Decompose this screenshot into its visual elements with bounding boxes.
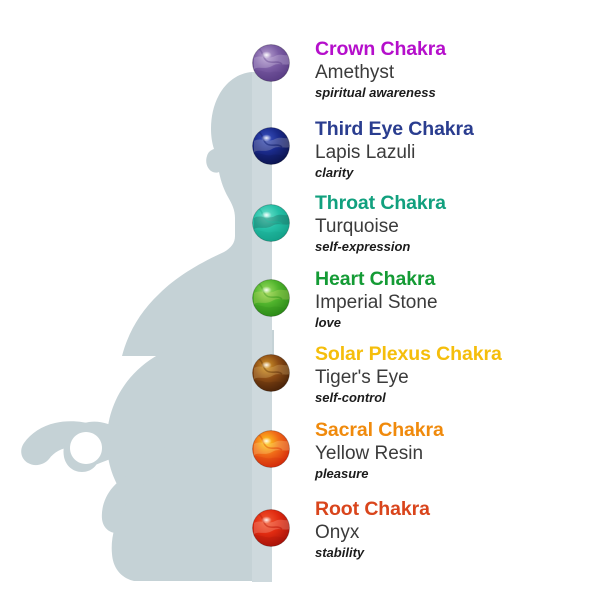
chakra-stone-sacral: Yellow Resin	[315, 442, 590, 465]
imperial-stone-bead	[252, 279, 290, 317]
chakra-keyword-sacral: pleasure	[315, 465, 590, 482]
onyx-bead	[252, 509, 290, 547]
chakra-stone-third-eye: Lapis Lazuli	[315, 141, 590, 164]
chakra-text-crown: Crown ChakraAmethystspiritual awareness	[315, 38, 590, 101]
chakra-title-throat: Throat Chakra	[315, 192, 590, 215]
chakra-text-heart: Heart ChakraImperial Stonelove	[315, 268, 590, 331]
chakra-stone-heart: Imperial Stone	[315, 291, 590, 314]
chakra-text-sacral: Sacral ChakraYellow Resinpleasure	[315, 419, 590, 482]
chakra-title-sacral: Sacral Chakra	[315, 419, 590, 442]
chakra-text-third-eye: Third Eye ChakraLapis Lazuliclarity	[315, 118, 590, 181]
chakra-title-third-eye: Third Eye Chakra	[315, 118, 590, 141]
chakra-title-crown: Crown Chakra	[315, 38, 590, 61]
yellow-resin-bead	[252, 430, 290, 468]
chakra-keyword-crown: spiritual awareness	[315, 84, 590, 101]
chakra-text-throat: Throat ChakraTurquoiseself-expression	[315, 192, 590, 255]
chakra-title-heart: Heart Chakra	[315, 268, 590, 291]
chakra-text-solar-plexus: Solar Plexus ChakraTiger's Eyeself-contr…	[315, 343, 590, 406]
chakra-title-root: Root Chakra	[315, 498, 590, 521]
chakra-keyword-root: stability	[315, 544, 590, 561]
chakra-stone-root: Onyx	[315, 521, 590, 544]
turquoise-bead	[252, 204, 290, 242]
chakra-title-solar-plexus: Solar Plexus Chakra	[315, 343, 590, 366]
chakra-poster: Crown ChakraAmethystspiritual awarenessT…	[0, 0, 600, 600]
chakra-keyword-throat: self-expression	[315, 238, 590, 255]
chakra-keyword-heart: love	[315, 314, 590, 331]
lapis-lazuli-bead	[252, 127, 290, 165]
chakra-stone-crown: Amethyst	[315, 61, 590, 84]
chakra-keyword-third-eye: clarity	[315, 164, 590, 181]
chakra-text-root: Root ChakraOnyxstability	[315, 498, 590, 561]
tigers-eye-bead	[252, 354, 290, 392]
chakra-keyword-solar-plexus: self-control	[315, 389, 590, 406]
chakra-stone-throat: Turquoise	[315, 215, 590, 238]
chakra-stone-solar-plexus: Tiger's Eye	[315, 366, 590, 389]
amethyst-bead	[252, 44, 290, 82]
